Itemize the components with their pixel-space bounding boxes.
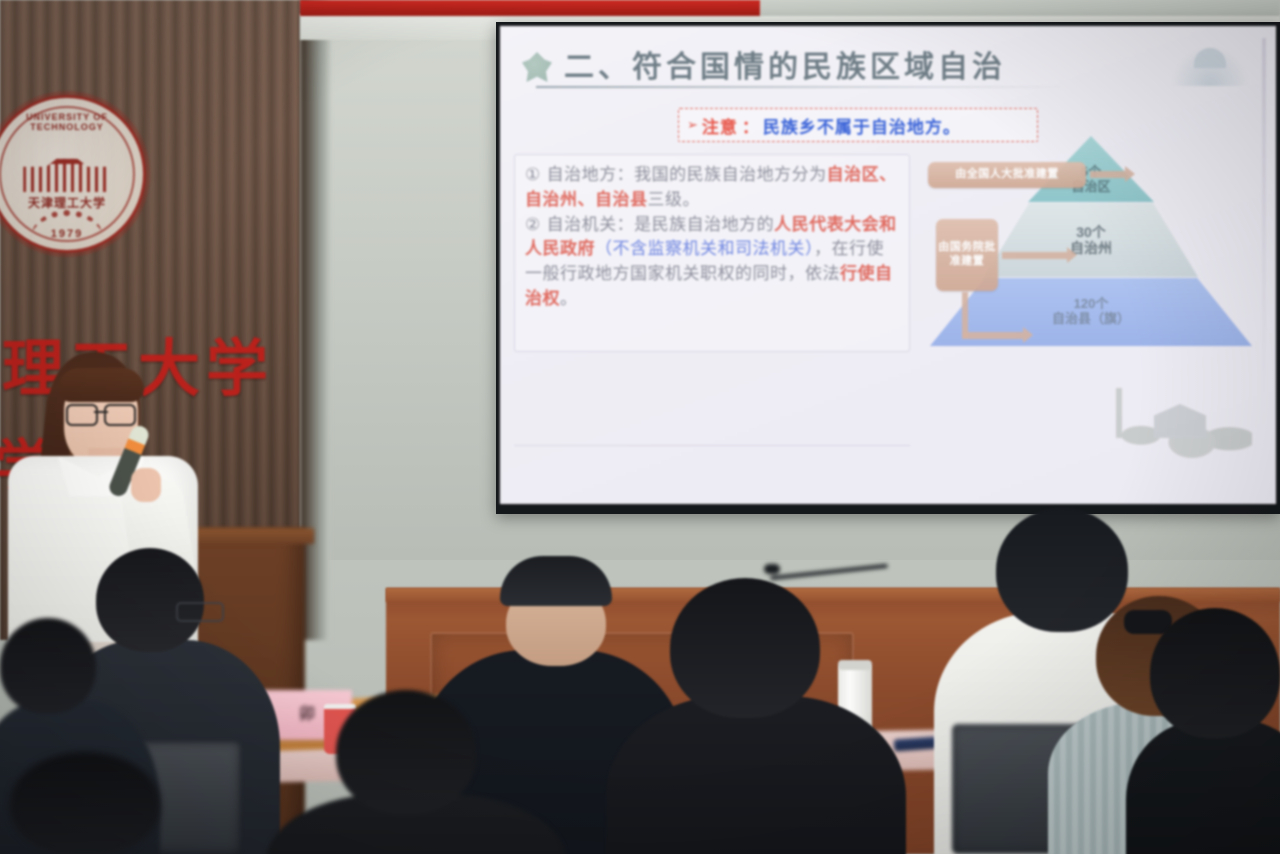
projector-screen-frame: 二、符合国情的民族区域自治 ➢ 注意 ： 民族乡不属于自治地方。 ① 自治地方：… [496,22,1280,514]
slide-body-box: ① 自治地方：我国的民族自治地方分为自治区、自治州、自治县三级。 ② 自治机关：… [514,154,910,352]
slide-divider [514,445,910,446]
pyramid-tier-middle: 30个 自治州 [984,203,1198,277]
slide-title: 二、符合国情的民族区域自治 [564,42,1006,86]
leaf-decoration-icon [522,52,552,82]
notice-value: 民族乡不属于自治地方。 [763,113,961,138]
item2-number: ② [525,215,541,235]
glasses-lens-right [104,404,136,426]
thermos-cap [838,660,872,670]
audience-head [670,578,820,718]
slide-title-row: 二、符合国情的民族区域自治 [516,40,1260,90]
notice-colon: ： [742,113,759,138]
tier-mid-count: 30个 [1070,224,1112,240]
item1-number: ① [525,165,541,185]
emblem-year: 1979 [0,228,143,240]
audience-head [336,690,476,814]
title-underline [536,86,1076,88]
item1-text-before: 我国的民族自治地方分为 [634,165,827,185]
dome-watermark-icon [1170,44,1250,86]
speaker-hand [131,468,161,502]
diagram-tag-state-council: 由国务院批准建置 [936,219,998,291]
item2-term: 自治机关 [547,215,617,235]
arrow-to-bottom-tier-icon [962,332,1024,339]
audience-head [1150,608,1280,738]
audience-head [10,752,160,854]
speaker-glasses-icon [66,404,136,422]
red-banner [300,0,760,16]
notice-keyword: 注意 [702,113,738,138]
university-emblem: UNIVERSITY OF TECHNOLOGY 天津理工大学 1979 [0,95,146,253]
item1-colon: ： [617,165,635,185]
item1-term: 自治地方 [547,165,617,185]
slide-body-item-2: ② 自治机关：是民族自治地方的人民代表大会和人民政府（不含监察机关和司法机关），… [525,213,899,312]
projector-screen: 二、符合国情的民族区域自治 ➢ 注意 ： 民族乡不属于自治地方。 ① 自治地方：… [500,26,1276,504]
tier-bot-label: 自治县（旗） [1052,312,1130,327]
arrow-to-top-tier-icon [1090,171,1126,178]
presentation-slide: 二、符合国情的民族区域自治 ➢ 注意 ： 民族乡不属于自治地方。 ① 自治地方：… [500,26,1276,504]
item2-text-before: 是民族自治地方的 [634,215,774,235]
glasses-lens-left [66,404,98,426]
landscape-watermark-icon [1102,382,1252,468]
diagram-tag-npc: 由全国人大批准建置 [928,162,1086,188]
mic-capsule-icon [764,564,780,574]
emblem-english-text: UNIVERSITY OF TECHNOLOGY [0,112,143,132]
tier-bot-count: 120个 [1052,297,1130,312]
item1-text-after: 三级。 [648,190,701,210]
lecture-hall-scene: UNIVERSITY OF TECHNOLOGY 天津理工大学 1979 理工大… [0,0,1280,854]
desk-microphone [770,560,890,586]
mic-boom-arm [770,564,888,580]
slide-right-divider [1262,38,1266,418]
speaker-bangs [58,368,144,402]
item2-text-end: 。 [560,289,578,309]
audience-head [96,548,204,652]
arrow-to-middle-tier-icon [1002,252,1068,259]
item2-paren: （不含监察机关和司法机关） [595,239,814,259]
item2-colon: ： [617,215,635,235]
notice-arrow-icon: ➢ [687,117,698,133]
slide-body-item-1: ① 自治地方：我国的民族自治地方分为自治区、自治州、自治县三级。 [525,163,899,213]
ceiling-strip-right [760,0,1280,16]
audience-head [996,508,1128,632]
audience-head [0,618,96,714]
audience-glasses-icon [176,602,224,622]
emblem-chinese-text: 天津理工大学 [0,194,143,211]
audience-torso [606,696,906,854]
